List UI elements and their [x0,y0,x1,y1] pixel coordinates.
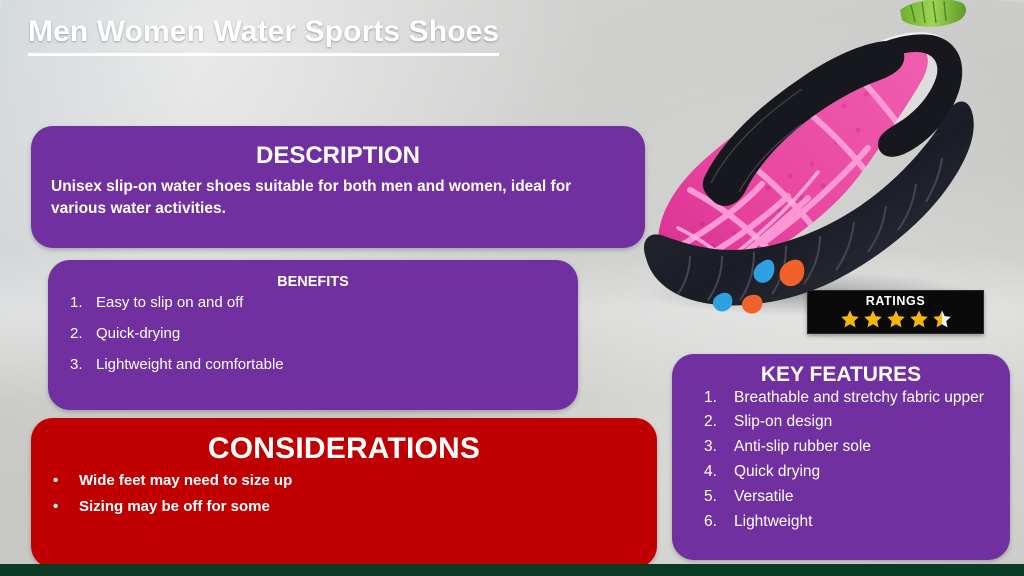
list-item-label: Quick drying [734,463,998,482]
status-badge: RATINGS [807,290,984,334]
list-item: 3. Anti-slip rubber sole [684,438,998,457]
heel-tab-icon [900,0,966,27]
benefits-list: 1. Easy to slip on and off 2. Quick-dryi… [62,294,564,374]
toe-accent-blue [754,260,775,283]
list-item-label: Slip-on design [734,413,998,432]
list-item: 1. Breathable and stretchy fabric upper [684,389,998,408]
list-item-label: Easy to slip on and off [96,294,564,312]
toe-accent-orange-2 [742,295,762,314]
star-icon-full-1 [840,309,860,329]
list-item: 5. Versatile [684,488,998,507]
benefits-card: BENEFITS 1. Easy to slip on and off 2. Q… [48,260,578,410]
list-item-index: 1. [70,294,96,312]
considerations-title: CONSIDERATIONS [47,432,641,466]
list-item-label: Lightweight and comfortable [96,356,564,374]
list-item: 4. Quick drying [684,463,998,482]
considerations-list: • Wide feet may need to size up • Sizing… [47,472,641,518]
star-icon-full-3 [886,309,906,329]
list-item-label: Quick-drying [96,325,564,343]
bullet-icon: • [53,472,79,491]
list-item-index: 1. [704,389,734,408]
bullet-icon: • [53,498,79,517]
star-icon-half-5 [932,309,952,329]
shoe-upper [658,42,928,279]
ratings-stars [840,309,952,329]
description-text: Unisex slip-on water shoes suitable for … [47,176,629,221]
toe-accent-blue-2 [713,293,732,312]
bottom-accent-bar [0,564,1024,576]
slide-canvas: Men Women Water Sports Shoes [0,0,1024,576]
list-item: 1. Easy to slip on and off [62,294,564,312]
list-item-index: 4. [704,463,734,482]
list-item-label: Versatile [734,488,998,507]
list-item-index: 6. [704,513,734,532]
list-item-label: Breathable and stretchy fabric upper [734,389,998,408]
list-item-label: Wide feet may need to size up [79,472,292,491]
list-item-index: 3. [70,356,96,374]
key-features-list: 1. Breathable and stretchy fabric upper … [684,389,998,532]
collar-trim [852,34,962,156]
list-item: 3. Lightweight and comfortable [62,356,564,374]
shoe-sole [644,102,974,306]
list-item: • Sizing may be off for some [53,498,641,517]
list-item-index: 3. [704,438,734,457]
key-features-title: KEY FEATURES [684,363,998,387]
list-item: 6. Lightweight [684,513,998,532]
product-image [612,0,1024,324]
description-card: DESCRIPTION Unisex slip-on water shoes s… [31,126,645,248]
ratings-label: RATINGS [866,295,926,308]
list-item-index: 2. [704,413,734,432]
considerations-card: CONSIDERATIONS • Wide feet may need to s… [31,418,657,568]
list-item-index: 2. [70,325,96,343]
star-icon-full-2 [863,309,883,329]
list-item: 2. Quick-drying [62,325,564,343]
list-item: 2. Slip-on design [684,413,998,432]
list-item-label: Anti-slip rubber sole [734,438,998,457]
toe-accent-orange [780,260,805,287]
description-title: DESCRIPTION [47,143,629,170]
page-title: Men Women Water Sports Shoes [28,14,499,56]
list-item-label: Lightweight [734,513,998,532]
list-item-label: Sizing may be off for some [79,498,270,517]
benefits-title: BENEFITS [62,274,564,290]
list-item-index: 5. [704,488,734,507]
instep-strap [703,41,905,206]
key-features-card: KEY FEATURES 1. Breathable and stretchy … [672,354,1010,560]
star-icon-full-4 [909,309,929,329]
list-item: • Wide feet may need to size up [53,472,641,491]
